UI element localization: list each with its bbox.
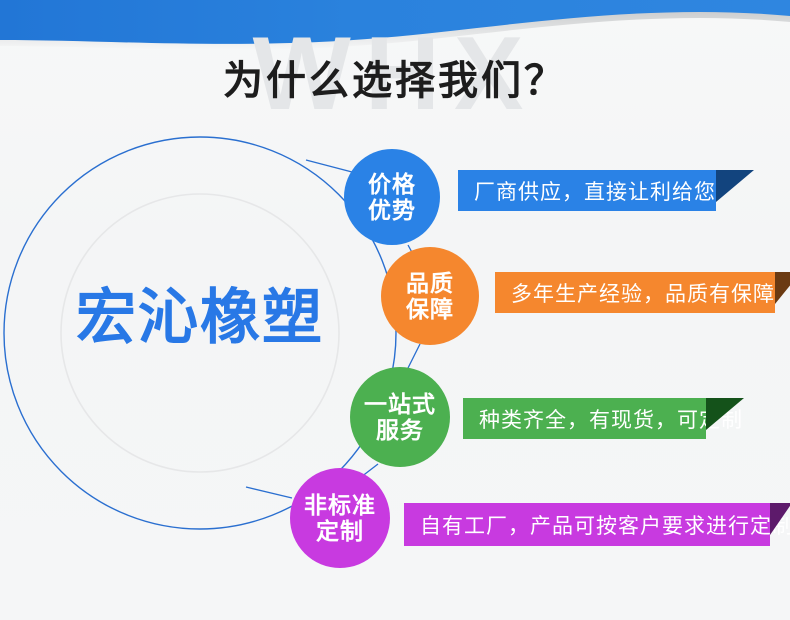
banner-text-quality-assurance: 多年生产经验，品质有保障 bbox=[495, 272, 775, 313]
badge-quality-assurance[interactable]: 品质 保障 bbox=[381, 247, 479, 345]
badge-label-line1: 一站式 bbox=[364, 391, 436, 417]
banner-custom-nonstandard: 自有工厂，产品可按客户要求进行定制 bbox=[404, 503, 790, 546]
badge-price-advantage[interactable]: 价格 优势 bbox=[344, 149, 440, 245]
banner-tail-custom-nonstandard bbox=[770, 503, 790, 535]
connector-badge-4-to-ring bbox=[246, 487, 292, 498]
banner-quality-assurance: 多年生产经验，品质有保障 bbox=[495, 272, 790, 313]
badge-label-line2: 保障 bbox=[406, 296, 454, 322]
banner-text-price-advantage: 厂商供应，直接让利给您 bbox=[458, 170, 716, 211]
badge-label-line1: 价格 bbox=[368, 171, 416, 197]
banner-tail-one-stop-service bbox=[706, 398, 744, 430]
banner-price-advantage: 厂商供应，直接让利给您 bbox=[458, 170, 754, 211]
banner-text-custom-nonstandard: 自有工厂，产品可按客户要求进行定制 bbox=[404, 503, 770, 546]
badge-label-line2: 服务 bbox=[376, 417, 424, 443]
infographic-page: WHX 为什么选择我们？ 宏沁橡塑 价格 优势 厂商供应，直接让利给您 品质 保… bbox=[0, 0, 790, 620]
badge-label-line1: 非标准 bbox=[304, 492, 376, 518]
badge-label-line2: 定制 bbox=[316, 518, 364, 544]
banner-text-one-stop-service: 种类齐全，有现货，可定制 bbox=[463, 398, 706, 439]
badge-label-line1: 品质 bbox=[406, 270, 454, 296]
badge-label-line2: 优势 bbox=[368, 197, 416, 223]
badge-one-stop-service[interactable]: 一站式 服务 bbox=[350, 367, 450, 467]
connector-ring-to-badge-1 bbox=[306, 160, 352, 172]
banner-one-stop-service: 种类齐全，有现货，可定制 bbox=[463, 398, 744, 439]
badge-custom-nonstandard[interactable]: 非标准 定制 bbox=[290, 468, 390, 568]
brand-name: 宏沁橡塑 bbox=[40, 288, 360, 348]
banner-tail-quality-assurance bbox=[775, 272, 790, 304]
banner-tail-price-advantage bbox=[716, 170, 754, 202]
